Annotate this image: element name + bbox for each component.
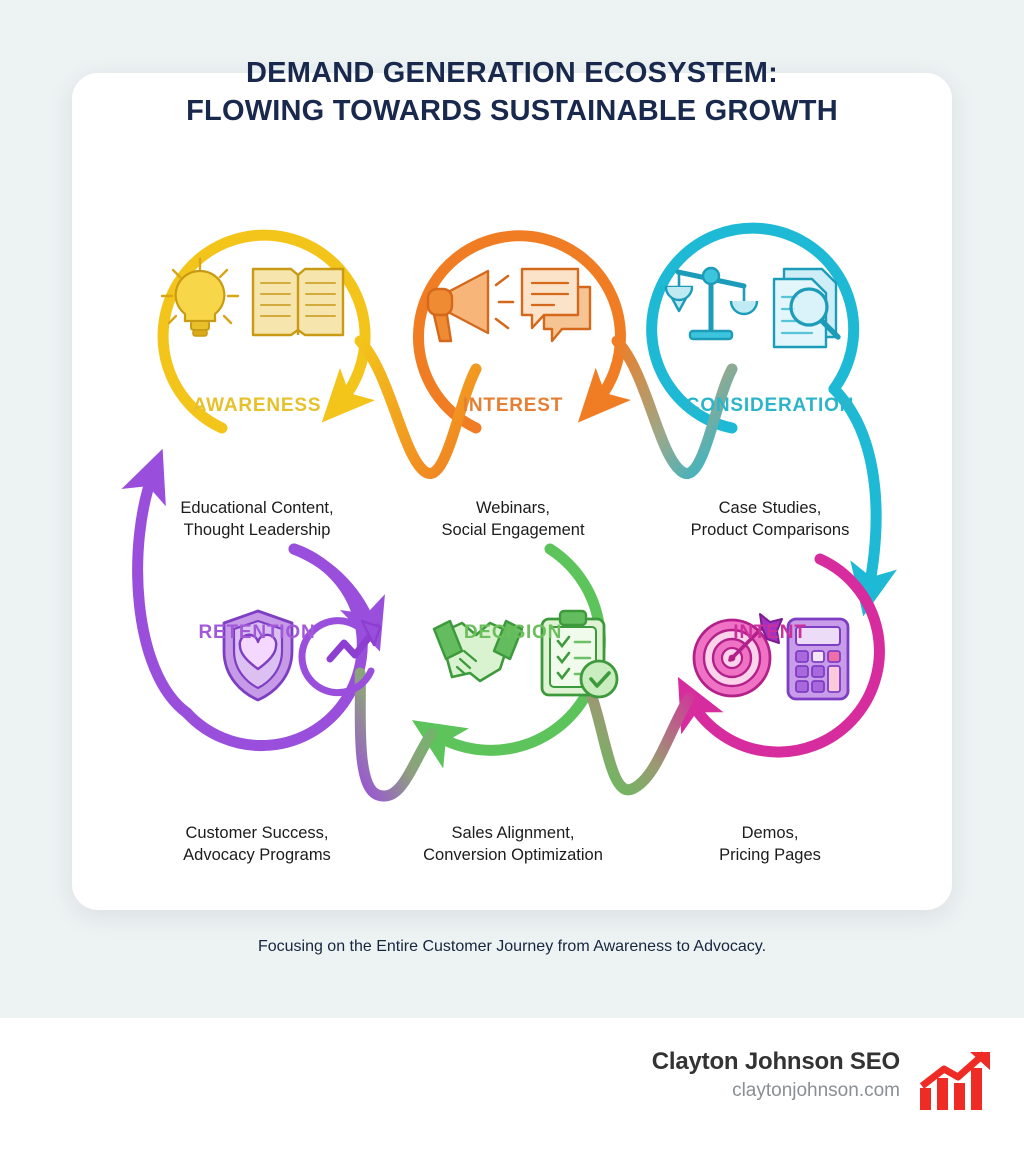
interest-desc-line1: Webinars, [476,499,550,517]
brand-block: Clayton Johnson SEO claytonjohnson.com [652,1048,900,1102]
stage-label-decision: DECISION [403,622,623,644]
stage-desc-intent: Demos, Pricing Pages [650,822,890,866]
decision-desc-line1: Sales Alignment, [452,824,575,842]
growth-bar-chart-logo [918,1050,998,1112]
stage-label-consideration: CONSIDERATION [660,395,880,417]
stage-label-retention: RETENTION [147,622,367,644]
stage-label-intent: INTENT [660,622,880,644]
brand-url[interactable]: claytonjohnson.com [652,1080,900,1102]
stage-desc-decision: Sales Alignment, Conversion Optimization [383,822,643,866]
speech-bubbles-icon [522,269,590,341]
footer-bar: Clayton Johnson SEO claytonjohnson.com [0,1018,1024,1154]
stage-desc-interest: Webinars, Social Engagement [393,497,633,541]
awareness-desc-line1: Educational Content, [180,499,333,517]
connector-decision-retention [360,673,432,796]
stage-desc-retention: Customer Success, Advocacy Programs [137,822,377,866]
caption-text: Focusing on the Entire Customer Journey … [0,938,1024,956]
open-book-icon [253,269,343,335]
decision-desc-line2: Conversion Optimization [423,846,603,864]
flow-diagram [72,73,952,910]
intent-desc-line1: Demos, [742,824,799,842]
document-magnifier-icon [774,269,838,347]
interest-desc-line2: Social Engagement [441,521,584,539]
intent-desc-line2: Pricing Pages [719,846,821,864]
stage-desc-awareness: Educational Content, Thought Leadership [137,497,377,541]
stage-label-awareness: AWARENESS [147,395,367,417]
infographic-canvas: DEMAND GENERATION ECOSYSTEM: FLOWING TOW… [0,0,1024,1018]
connector-consideration-intent [834,389,876,593]
brand-name: Clayton Johnson SEO [652,1048,900,1076]
stage-desc-consideration: Case Studies, Product Comparisons [650,497,890,541]
retention-desc-line1: Customer Success, [185,824,328,842]
awareness-desc-line2: Thought Leadership [184,521,331,539]
stage-label-interest: INTEREST [403,395,623,417]
consideration-desc-line2: Product Comparisons [691,521,850,539]
consideration-desc-line1: Case Studies, [719,499,822,517]
balance-scales-icon [666,268,757,339]
retention-desc-line2: Advocacy Programs [183,846,331,864]
